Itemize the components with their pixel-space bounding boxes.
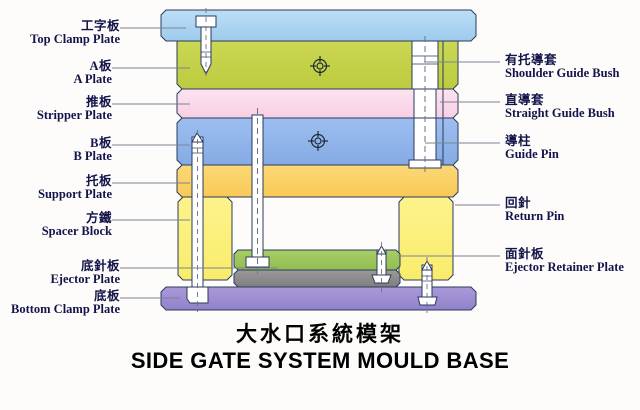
label-stripper-plate: 推板 Stripper Plate xyxy=(0,96,112,122)
label-bottom-clamp-plate: 底板 Bottom Clamp Plate xyxy=(0,290,120,316)
label-a-plate: A板 A Plate xyxy=(0,60,112,86)
label-guide-pin: 導柱 Guide Pin xyxy=(505,135,559,161)
label-shoulder-guide-bush-cn: 有托導套 xyxy=(505,54,619,67)
label-a-plate-en: A Plate xyxy=(0,73,112,86)
plate-a-right-wing xyxy=(443,41,458,89)
label-ejector-retainer-plate-cn: 面針板 xyxy=(505,248,624,261)
label-stripper-plate-cn: 推板 xyxy=(0,96,112,109)
centre-sprue-pin-shaft xyxy=(252,115,263,257)
label-ejector-plate: 底針板 Ejector Plate xyxy=(0,260,120,286)
label-straight-guide-bush-en: Straight Guide Bush xyxy=(505,107,615,120)
plate-stripper-right-wing xyxy=(443,89,458,118)
label-spacer-block-en: Spacer Block xyxy=(0,225,112,238)
label-spacer-block-cn: 方鐵 xyxy=(0,212,112,225)
label-ejector-plate-cn: 底針板 xyxy=(0,260,120,273)
label-support-plate: 托板 Support Plate xyxy=(0,175,112,201)
label-bottom-clamp-plate-en: Bottom Clamp Plate xyxy=(0,303,120,316)
label-b-plate-cn: B板 xyxy=(0,137,112,150)
label-shoulder-guide-bush: 有托導套 Shoulder Guide Bush xyxy=(505,54,619,80)
label-support-plate-en: Support Plate xyxy=(0,188,112,201)
page-title-cn: 大水口系統模架 xyxy=(0,318,640,348)
label-a-plate-cn: A板 xyxy=(0,60,112,73)
page-title: 大水口系統模架 SIDE GATE SYSTEM MOULD BASE xyxy=(0,318,640,374)
label-return-pin-en: Return Pin xyxy=(505,210,564,223)
label-guide-pin-en: Guide Pin xyxy=(505,148,559,161)
label-top-clamp-plate-cn: 工字板 xyxy=(0,20,120,33)
plate-b-right-wing xyxy=(443,118,458,165)
straight-guide-bush xyxy=(414,89,436,118)
plate-stripper xyxy=(177,89,453,118)
label-support-plate-cn: 托板 xyxy=(0,175,112,188)
label-guide-pin-cn: 導柱 xyxy=(505,135,559,148)
label-ejector-retainer-plate-en: Ejector Retainer Plate xyxy=(505,261,624,274)
page-title-en: SIDE GATE SYSTEM MOULD BASE xyxy=(0,348,640,374)
label-stripper-plate-en: Stripper Plate xyxy=(0,109,112,122)
label-return-pin: 回針 Return Pin xyxy=(505,197,564,223)
label-spacer-block: 方鐵 Spacer Block xyxy=(0,212,112,238)
label-top-clamp-plate: 工字板 Top Clamp Plate xyxy=(0,20,120,46)
label-ejector-retainer-plate: 面針板 Ejector Retainer Plate xyxy=(505,248,624,274)
label-ejector-plate-en: Ejector Plate xyxy=(0,273,120,286)
label-top-clamp-plate-en: Top Clamp Plate xyxy=(0,33,120,46)
spacer-screw-head xyxy=(418,297,437,305)
label-bottom-clamp-plate-cn: 底板 xyxy=(0,290,120,303)
label-straight-guide-bush: 直導套 Straight Guide Bush xyxy=(505,94,615,120)
label-return-pin-cn: 回針 xyxy=(505,197,564,210)
label-b-plate-en: B Plate xyxy=(0,150,112,163)
label-b-plate: B板 B Plate xyxy=(0,137,112,163)
diagram-canvas: 工字板 Top Clamp Plate A板 A Plate 推板 Stripp… xyxy=(0,0,640,410)
plate-support xyxy=(177,165,458,197)
label-shoulder-guide-bush-en: Shoulder Guide Bush xyxy=(505,67,619,80)
label-straight-guide-bush-cn: 直導套 xyxy=(505,94,615,107)
